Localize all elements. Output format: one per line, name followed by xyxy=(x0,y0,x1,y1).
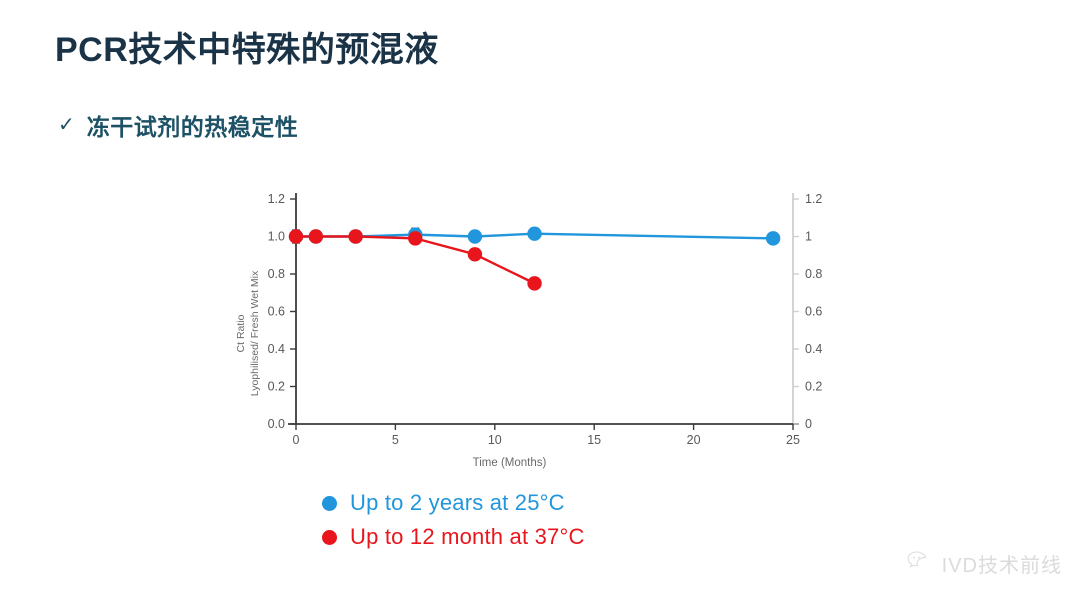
subtitle-label: 冻干试剂的热稳定性 xyxy=(87,108,299,142)
svg-text:0: 0 xyxy=(293,433,300,447)
legend-label-25c: Up to 2 years at 25°C xyxy=(350,490,565,516)
legend-item-25c: Up to 2 years at 25°C xyxy=(322,490,585,516)
svg-text:0: 0 xyxy=(805,417,812,431)
svg-text:15: 15 xyxy=(587,433,601,447)
wechat-icon xyxy=(907,550,933,577)
svg-text:Time (Months): Time (Months) xyxy=(473,457,547,469)
svg-text:1.2: 1.2 xyxy=(805,192,822,206)
svg-text:0.2: 0.2 xyxy=(805,380,822,394)
check-icon: ✓ xyxy=(58,115,75,135)
svg-text:1.2: 1.2 xyxy=(268,192,285,206)
slide-canvas: PCR技术中特殊的预混液 ✓ 冻干试剂的热稳定性 0.000.20.20.40.… xyxy=(0,0,1080,608)
svg-text:25: 25 xyxy=(786,433,800,447)
svg-text:0.2: 0.2 xyxy=(268,380,285,394)
chart-legend: Up to 2 years at 25°C Up to 12 month at … xyxy=(322,490,585,550)
chart-svg: 0.000.20.20.40.40.60.60.80.81.011.21.205… xyxy=(200,185,840,475)
svg-text:0.4: 0.4 xyxy=(268,342,285,356)
svg-text:1.0: 1.0 xyxy=(268,230,285,244)
svg-text:1: 1 xyxy=(805,230,812,244)
svg-text:Lyophilised/ Fresh Wet Mix: Lyophilised/ Fresh Wet Mix xyxy=(249,270,261,396)
watermark: IVD技术前线 xyxy=(907,549,1062,578)
legend-item-37c: Up to 12 month at 37°C xyxy=(322,524,585,550)
svg-text:0.6: 0.6 xyxy=(268,305,285,319)
svg-text:0.8: 0.8 xyxy=(805,267,822,281)
subtitle-bullet: ✓ 冻干试剂的热稳定性 xyxy=(58,108,298,142)
watermark-text: IVD技术前线 xyxy=(942,549,1062,578)
svg-text:5: 5 xyxy=(392,433,399,447)
svg-text:10: 10 xyxy=(488,433,502,447)
svg-text:Ct Ratio: Ct Ratio xyxy=(235,314,247,352)
svg-text:0.4: 0.4 xyxy=(805,342,822,356)
legend-label-37c: Up to 12 month at 37°C xyxy=(350,524,585,550)
thermal-stability-chart: 0.000.20.20.40.40.60.60.80.81.011.21.205… xyxy=(200,185,840,475)
svg-text:0.6: 0.6 xyxy=(805,305,822,319)
legend-marker-blue-icon xyxy=(322,496,337,511)
page-title: PCR技术中特殊的预混液 xyxy=(55,22,439,71)
svg-text:0.8: 0.8 xyxy=(268,267,285,281)
svg-text:0.0: 0.0 xyxy=(268,417,285,431)
svg-text:20: 20 xyxy=(687,433,701,447)
legend-marker-red-icon xyxy=(322,530,337,545)
